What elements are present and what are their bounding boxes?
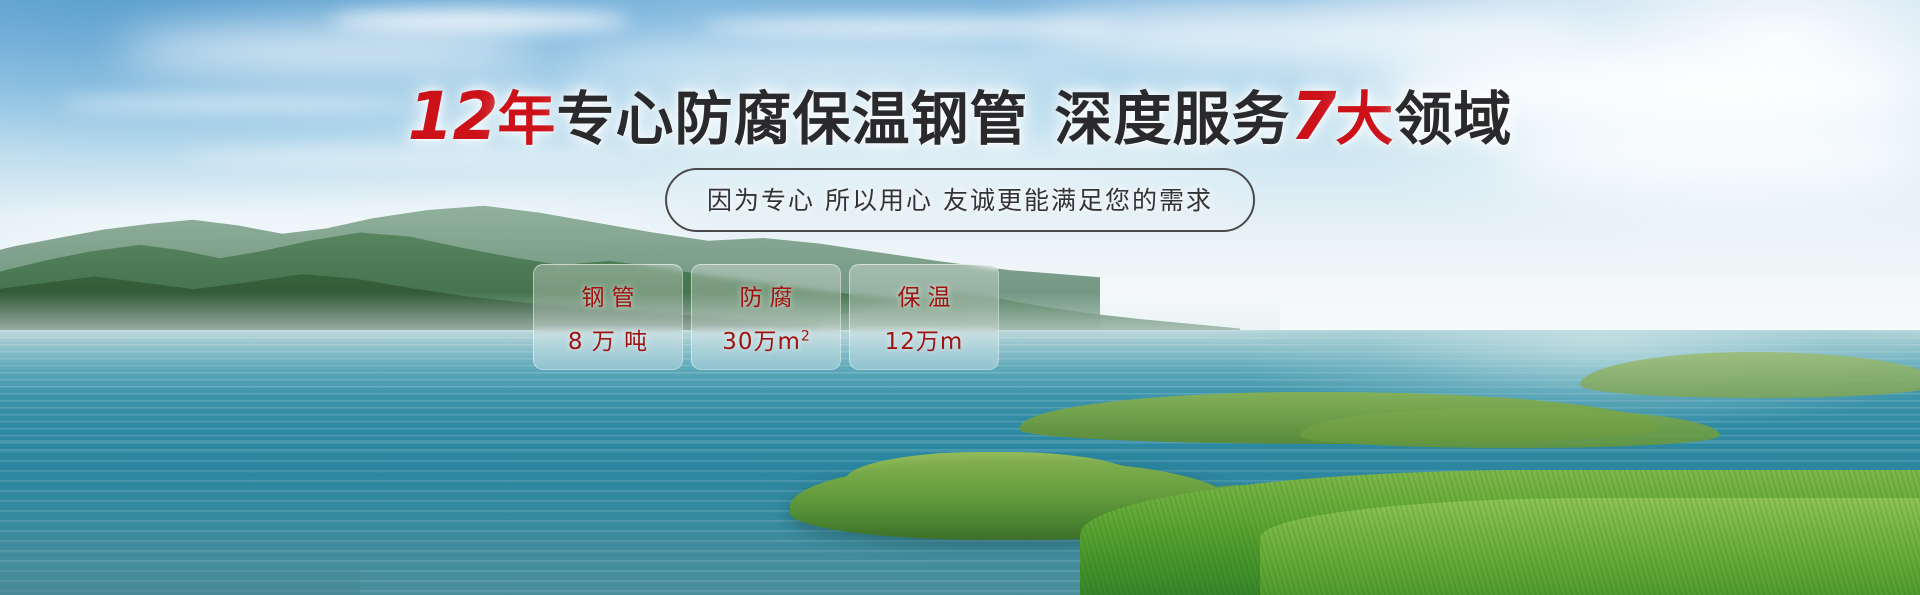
stat-card-insulation: 保温 12万m bbox=[849, 264, 999, 370]
shore-shadow-left bbox=[0, 560, 360, 595]
stat-card-label: 钢管 bbox=[575, 278, 642, 312]
headline-years-unit: 年 bbox=[497, 85, 556, 153]
stat-card-label: 保温 bbox=[891, 278, 958, 312]
cloud-shape bbox=[560, 46, 1080, 86]
cloud-shape bbox=[120, 28, 540, 74]
stat-card-value-superscript: 2 bbox=[801, 328, 810, 344]
headline-fields-text: 领域 bbox=[1394, 85, 1512, 153]
headline-years-number: 12 bbox=[408, 78, 498, 155]
cloud-shape bbox=[330, 10, 630, 32]
subtitle-pill: 因为专心 所以用心 友诚更能满足您的需求 bbox=[665, 168, 1255, 232]
headline: 12年专心防腐保温钢管深度服务7大领域 bbox=[0, 86, 1920, 150]
stat-card-value: 12万m bbox=[885, 322, 964, 356]
stat-card-value-text: 8 万 吨 bbox=[568, 329, 648, 355]
hero-banner: 12年专心防腐保温钢管深度服务7大领域 因为专心 所以用心 友诚更能满足您的需求… bbox=[0, 0, 1920, 595]
headline-seven-unit: 大 bbox=[1335, 85, 1394, 153]
stat-card-value: 8 万 吨 bbox=[568, 322, 648, 356]
stat-card-label: 防腐 bbox=[733, 278, 800, 312]
stat-card-value: 30万m2 bbox=[722, 322, 810, 356]
stat-card-steel-pipe: 钢管 8 万 吨 bbox=[533, 264, 683, 370]
headline-main-text: 专心防腐保温钢管 bbox=[556, 85, 1028, 153]
stat-card-value-text: 12万m bbox=[885, 329, 964, 355]
stat-card-anticorrosion: 防腐 30万m2 bbox=[691, 264, 841, 370]
stat-card-value-text: 30万m bbox=[722, 329, 801, 355]
stat-card-group: 钢管 8 万 吨 防腐 30万m2 保温 12万m bbox=[533, 264, 999, 370]
headline-seven-number: 7 bbox=[1290, 78, 1335, 155]
headline-service-text: 深度服务 bbox=[1054, 85, 1290, 153]
subtitle-text: 因为专心 所以用心 友诚更能满足您的需求 bbox=[707, 181, 1213, 217]
